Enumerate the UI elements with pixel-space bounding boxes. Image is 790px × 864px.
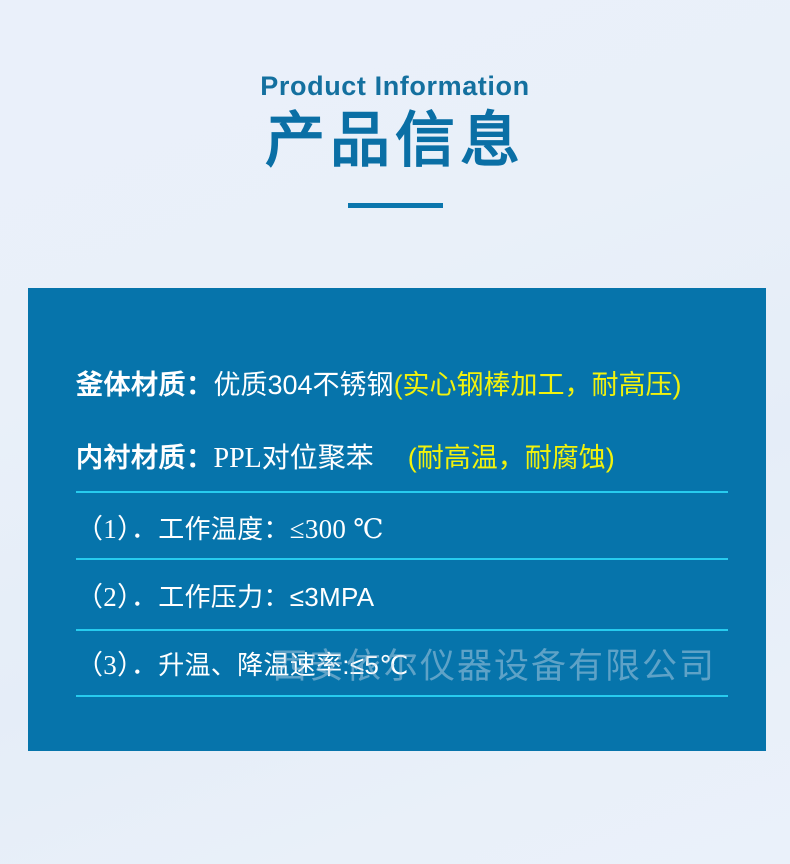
page-subtitle-english: Product Information — [0, 68, 790, 104]
spec-row-vessel-material: 釜体材质：优质304不锈钢(实心钢棒加工，耐高压) — [76, 365, 728, 405]
spec-row-working-pressure: （2）．工作压力：≤3MPA — [76, 578, 728, 616]
row-divider — [76, 629, 728, 631]
spec-index: （2）． — [76, 582, 158, 612]
page-header: Product Information 产品信息 — [0, 0, 790, 230]
spec-label: 内衬材质： — [76, 443, 214, 473]
spec-note: (耐高温，耐腐蚀) — [374, 443, 615, 473]
spec-value: ≤300 ℃ — [290, 514, 384, 544]
spec-row-heating-cooling-rate: （3）．升温、降温速率:≤5℃ — [76, 646, 728, 684]
specifications-card: 釜体材质：优质304不锈钢(实心钢棒加工，耐高压) 内衬材质：PPL对位聚苯(耐… — [28, 288, 766, 751]
spec-note: (实心钢棒加工，耐高压) — [394, 370, 682, 400]
spec-value: PPL对位聚苯 — [214, 443, 374, 474]
spec-index: （3）． — [76, 650, 158, 680]
spec-value: ≤3MPA — [290, 582, 375, 612]
title-divider — [348, 203, 443, 208]
spec-value: ≤5℃ — [350, 650, 409, 680]
spec-label: 工作压力： — [158, 582, 290, 612]
product-information-page: Product Information 产品信息 釜体材质：优质304不锈钢(实… — [0, 0, 790, 864]
page-title: 产品信息 — [0, 104, 790, 178]
specifications-list: 釜体材质：优质304不锈钢(实心钢棒加工，耐高压) 内衬材质：PPL对位聚苯(耐… — [28, 288, 766, 751]
row-divider — [76, 695, 728, 697]
spec-row-liner-material: 内衬材质：PPL对位聚苯(耐高温，耐腐蚀) — [76, 438, 728, 479]
spec-row-working-temperature: （1）．工作温度：≤300 ℃ — [76, 510, 728, 548]
spec-label: 工作温度： — [158, 514, 290, 544]
spec-label: 升温、降温速率: — [158, 650, 350, 680]
spec-label: 釜体材质： — [76, 370, 214, 400]
spec-index: （1）． — [76, 514, 158, 544]
row-divider — [76, 491, 728, 493]
spec-value: 优质304不锈钢 — [214, 370, 394, 400]
row-divider — [76, 558, 728, 560]
